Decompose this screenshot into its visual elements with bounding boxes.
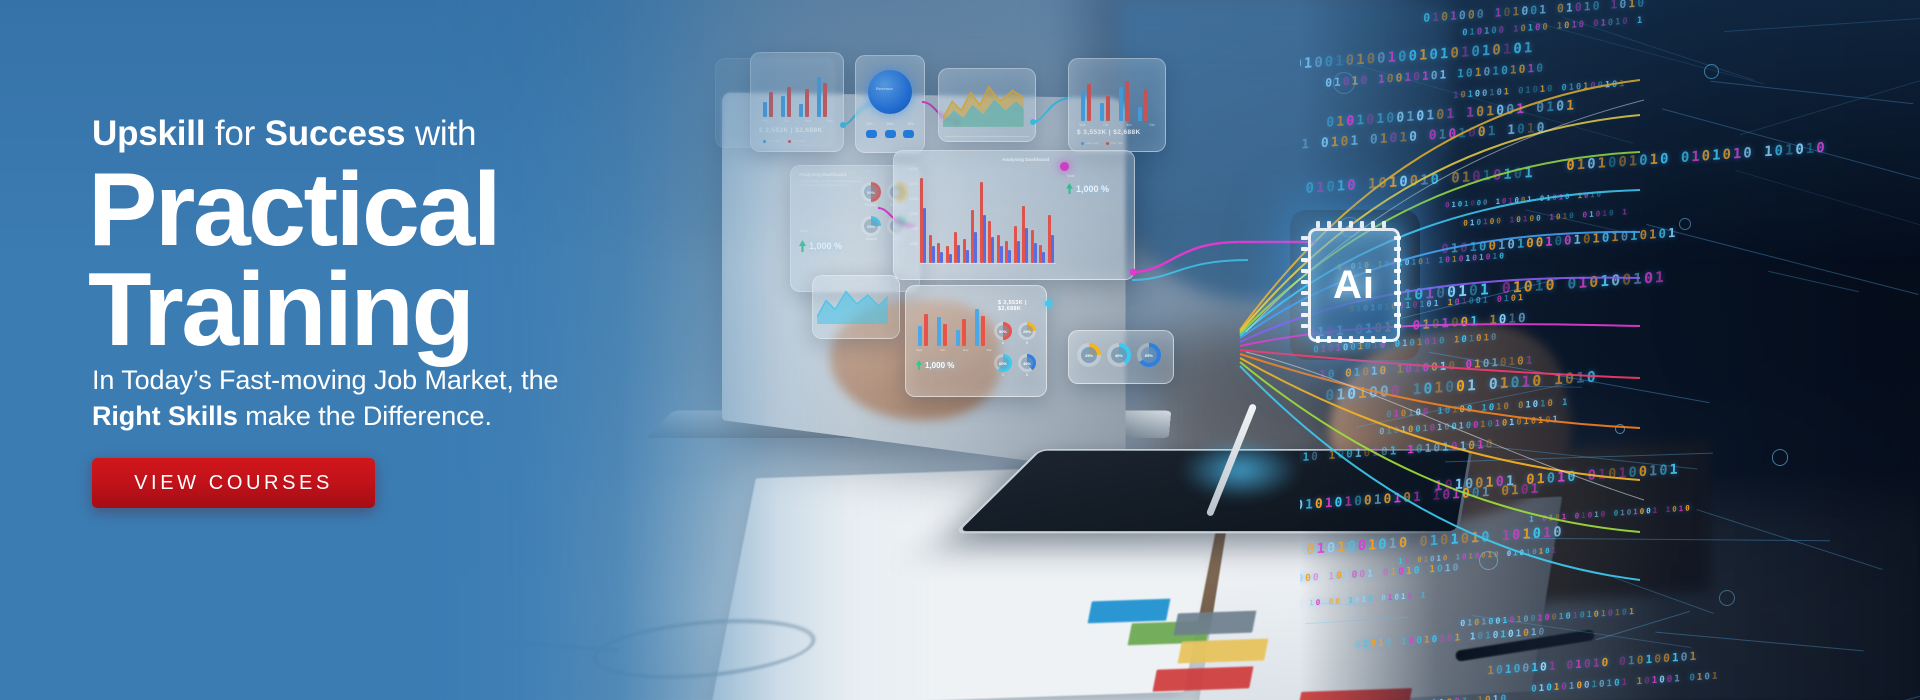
subheading-strong: Right Skills [92,401,238,431]
subheading: In Today’s Fast-moving Job Market, the R… [92,362,558,434]
headline-line-2: Training [88,258,472,362]
eyebrow-word-success: Success [265,114,406,153]
eyebrow-heading: Upskill for Success with [92,113,476,155]
view-courses-button[interactable]: VIEW COURSES [92,458,375,508]
hero-content: Upskill for Success with Practical Train… [92,0,712,700]
subheading-line-1: In Today’s Fast-moving Job Market, the [92,362,558,398]
eyebrow-word-for: for [205,114,264,153]
subheading-line-2: Right Skills make the Difference. [92,398,558,434]
headline-line-1: Practical [88,158,499,262]
subheading-rest: make the Difference. [238,401,492,431]
eyebrow-word-with: with [405,114,476,153]
eyebrow-word-upskill: Upskill [92,114,205,153]
hero-banner: 0101000 101001 01010 1010010100 10100 10… [0,0,1920,700]
